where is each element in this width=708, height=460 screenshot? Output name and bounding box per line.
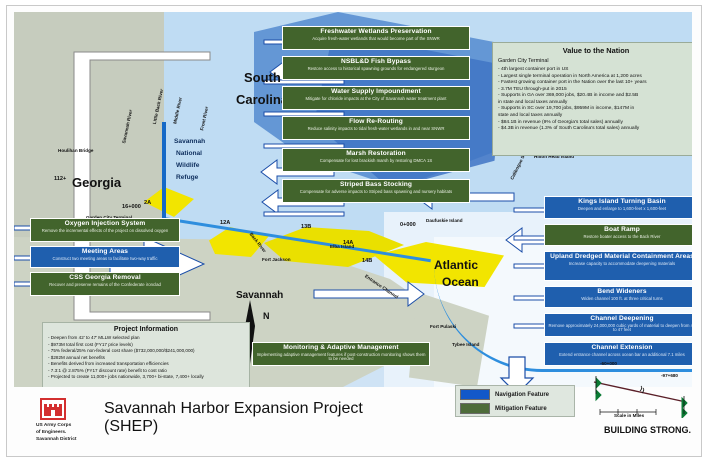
map-station-112: 112+	[54, 176, 66, 182]
map-label-tybee-island: Tybee Island	[452, 342, 480, 347]
map-label-houlihan-bridge: Houlihan Bridge	[58, 148, 93, 153]
map-label-refuge-4: Refuge	[176, 174, 198, 181]
callout-striped-bass-stocking[interactable]: Striped Bass Stocking Compensate for adv…	[282, 179, 470, 203]
callout-subtitle: Deepen and enlarge to 1,600-feet x 1,600…	[548, 207, 692, 211]
vtn-bullet: - $4.3B in revenue (1.3% of South Caroli…	[498, 126, 692, 133]
callout-title: CSS Georgia Removal	[34, 275, 176, 282]
agency-line-3: Savannah District	[36, 437, 77, 444]
map-dmca-2a: 2A	[144, 200, 151, 206]
map-dmca-14b: 14B	[362, 258, 372, 264]
callout-title: NSBL&D Fish Bypass	[286, 59, 466, 66]
callout-meeting-areas[interactable]: Meeting Areas Construct two meeting area…	[30, 246, 180, 268]
castle-glyph	[44, 403, 62, 416]
callout-subtitle: Recover and preserve remains of the Conf…	[34, 283, 176, 287]
callout-nsbld-fish-bypass[interactable]: NSBL&D Fish Bypass Restore access to his…	[282, 56, 470, 80]
map-label-carolina: Carolina	[236, 92, 288, 107]
callout-title: Kings Island Turning Basin	[548, 199, 692, 206]
legend-label-navigation: Navigation Feature	[495, 392, 549, 398]
map-dmca-14a: 14A	[343, 240, 353, 246]
callout-subtitle: Implementing adaptive management feature…	[256, 353, 426, 362]
callout-subtitle: Remove approximately 24,000,000 cubic ya…	[548, 324, 692, 333]
project-information-panel: Project Information - Deepen from 42' to…	[42, 322, 250, 387]
callout-title: Channel Extension	[548, 345, 692, 352]
callout-marsh-restoration[interactable]: Marsh Restoration Compensate for lost br…	[282, 148, 470, 172]
map-label-daufuskie-island: Daufuskie Island	[426, 218, 463, 223]
usace-castle-icon	[40, 398, 66, 420]
legend-label-mitigation: Mitigation Feature	[495, 406, 547, 412]
callout-upland-dredged-material-containment-areas[interactable]: Upland Dredged Material Containment Area…	[544, 251, 692, 281]
map-legend: Navigation Feature Mitigation Feature	[455, 385, 575, 417]
legend-swatch-mitigation	[460, 403, 490, 414]
callout-channel-extension[interactable]: Channel Extension Extend entrance channe…	[544, 342, 692, 366]
callout-subtitle: Reduce salinity impacts to tidal fresh-w…	[286, 127, 466, 131]
callout-title: Oxygen Injection System	[34, 221, 176, 228]
callout-title: Bend Wideners	[548, 289, 692, 296]
legend-row-mitigation: Mitigation Feature	[460, 403, 570, 414]
map-dmca-12a: 12A	[220, 220, 230, 226]
callout-channel-deepening[interactable]: Channel Deepening Remove approximately 2…	[544, 313, 692, 337]
project-info-heading: Project Information	[48, 326, 244, 333]
vtn-subheading: Garden City Terminal	[498, 58, 692, 64]
map-canvas: Georgia South Carolina Atlantic Ocean Sa…	[14, 12, 692, 387]
callout-monitoring-adaptive-management[interactable]: Monitoring & Adaptive Management Impleme…	[252, 342, 430, 366]
map-label-refuge-1: Savannah	[174, 138, 205, 145]
profile-scale-label: Scale in Miles	[614, 413, 644, 418]
value-to-the-nation-panel: Value to the Nation Garden City Terminal…	[492, 42, 692, 156]
callout-title: Upland Dredged Material Containment Area…	[548, 254, 692, 261]
map-label-atlantic: Atlantic	[434, 258, 478, 272]
map-station-0000: 0+000	[400, 222, 416, 228]
map-dmca-13b: 13B	[301, 224, 311, 230]
callout-subtitle: Remove the incremental effects of the pr…	[34, 229, 176, 233]
vtn-bullet-list: - 4th largest container port in US - Lar…	[498, 67, 692, 133]
callout-subtitle: Acquire fresh-water wetlands that would …	[286, 37, 466, 41]
callout-boat-ramp[interactable]: Boat Ramp Restore boater access to the B…	[544, 224, 692, 246]
agency-line-1: US Army Corps	[36, 423, 77, 430]
poster-title: Savannah Harbor Expansion Project (SHEP)	[104, 400, 414, 436]
callout-title: Freshwater Wetlands Preservation	[286, 29, 466, 36]
callout-title: Striped Bass Stocking	[286, 182, 466, 189]
callout-flow-re-routing[interactable]: Flow Re-Routing Reduce salinity impacts …	[282, 116, 470, 140]
agency-line-2: of Engineers.	[36, 430, 77, 437]
map-label-ocean: Ocean	[442, 275, 479, 289]
callout-bend-wideners[interactable]: Bend Wideners Widen channel 100 ft. at t…	[544, 286, 692, 308]
callout-title: Marsh Restoration	[286, 151, 466, 158]
callout-subtitle: Restore access to historical spawning gr…	[286, 67, 466, 71]
callout-subtitle: Increase capacity to accommodate deepeni…	[548, 262, 692, 266]
callout-oxygen-injection-system[interactable]: Oxygen Injection System Remove the incre…	[30, 218, 180, 242]
legend-row-navigation: Navigation Feature	[460, 389, 570, 400]
map-label-georgia: Georgia	[72, 175, 121, 190]
callout-title: Meeting Areas	[34, 249, 176, 256]
callout-kings-island-turning-basin[interactable]: Kings Island Turning Basin Deepen and en…	[544, 196, 692, 219]
callout-subtitle: Construct two meeting areas to facilitat…	[34, 257, 176, 261]
profile-station-minus-97680: -97+680	[661, 373, 678, 378]
callout-subtitle: Restore boater access to the Back River	[548, 235, 692, 239]
callout-title: Flow Re-Routing	[286, 119, 466, 126]
map-label-refuge-2: National	[176, 150, 202, 157]
poster-title-bar: US Army Corps of Engineers. Savannah Dis…	[14, 392, 414, 448]
callout-subtitle: Compensate for adverse impacts to Stripe…	[286, 190, 466, 194]
north-arrow-label: N	[263, 311, 270, 321]
map-label-fort-jackson: Fort Jackson	[262, 257, 291, 262]
callout-title: Channel Deepening	[548, 316, 692, 323]
profile-station-minus-60000: -60+000	[600, 361, 617, 366]
map-label-fort-pulaski: Fort Pulaski	[430, 324, 456, 329]
map-label-refuge-3: Wildlife	[176, 162, 199, 169]
callout-subtitle: Mitigate for chloride impacts at the Cit…	[286, 97, 466, 101]
callout-freshwater-wetlands-preservation[interactable]: Freshwater Wetlands Preservation Acquire…	[282, 26, 470, 50]
map-label-south: South	[244, 70, 281, 85]
callout-subtitle: Widen channel 100 ft. at three critical …	[548, 297, 692, 301]
channel-profile-diagram	[590, 372, 690, 418]
callout-subtitle: Extend entrance channel across ocean bar…	[548, 353, 692, 357]
callout-title: Boat Ramp	[548, 227, 692, 234]
callout-title: Water Supply Impoundment	[286, 89, 466, 96]
callout-water-supply-impoundment[interactable]: Water Supply Impoundment Mitigate for ch…	[282, 86, 470, 110]
callout-title: Monitoring & Adaptive Management	[256, 345, 426, 352]
vtn-heading: Value to the Nation	[498, 46, 692, 55]
map-label-savannah-city: Savannah	[236, 290, 283, 301]
project-info-bullet: - Projected to create 11,000+ jobs natio…	[48, 374, 244, 381]
callout-subtitle: Compensate for lost brackish marsh by re…	[286, 159, 466, 163]
building-strong-tagline: BUILDING STRONG.	[604, 425, 691, 435]
agency-caption: US Army Corps of Engineers. Savannah Dis…	[36, 423, 77, 443]
map-station-16000: 16+000	[122, 204, 141, 210]
legend-swatch-navigation	[460, 389, 490, 400]
project-info-bullet-list: - Deepen from 42' to 47' MLLW selected p…	[48, 335, 244, 381]
callout-css-georgia-removal[interactable]: CSS Georgia Removal Recover and preserve…	[30, 272, 180, 296]
poster-root: Georgia South Carolina Atlantic Ocean Sa…	[0, 0, 708, 460]
